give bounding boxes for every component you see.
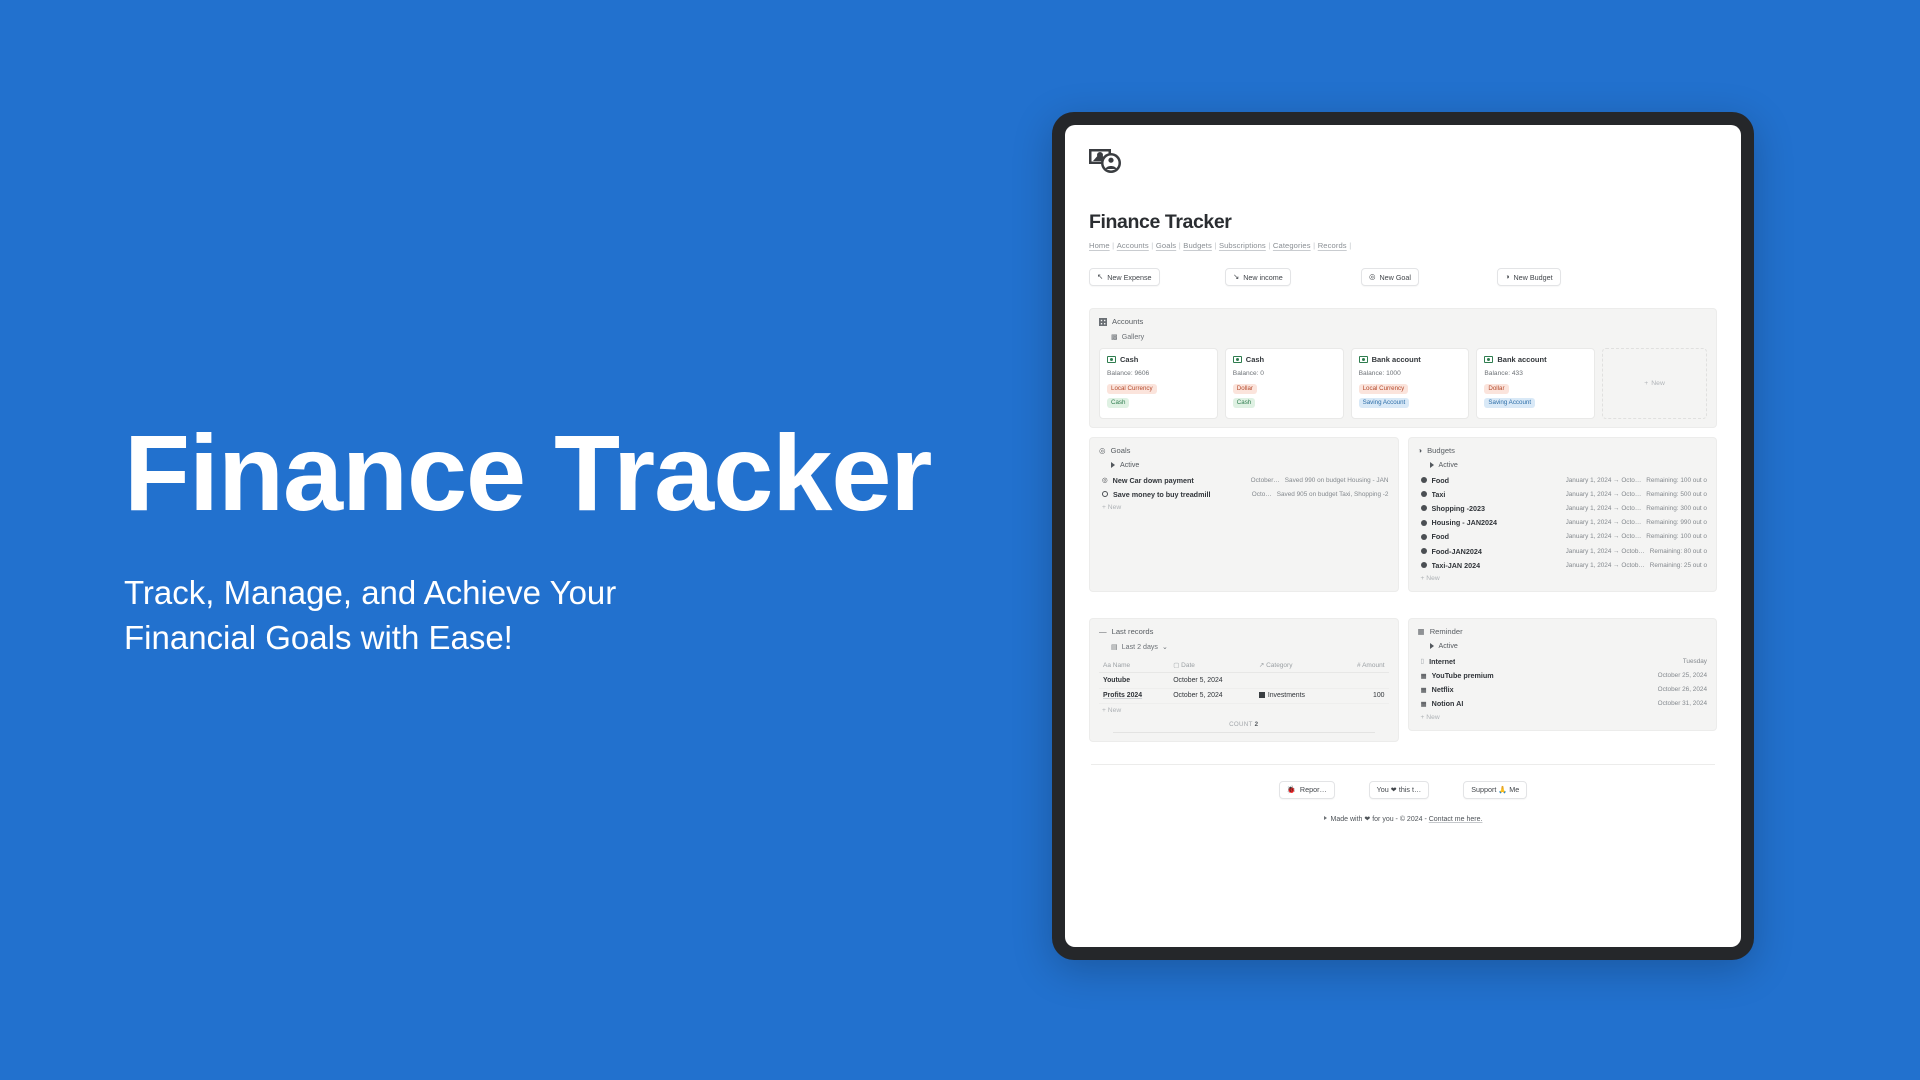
budget-period: January 1, 2024 → Octob… — [1566, 548, 1645, 555]
hero-title: Finance Tracker — [124, 419, 1050, 527]
calendar-icon: ▢ — [1173, 662, 1179, 669]
records-reminder-row: — Last records ▤ Last 2 days ⌄ Aa Name ▢… — [1089, 618, 1717, 741]
budget-name: Shopping -2023 — [1432, 504, 1486, 513]
reminder-icon: ▦ — [1421, 672, 1427, 680]
budget-period: January 1, 2024 → Octo… — [1566, 533, 1642, 540]
chevron-right-icon — [1324, 816, 1327, 820]
chevron-right-icon — [1111, 462, 1115, 468]
account-currency-tag: Local Currency — [1107, 384, 1157, 394]
budget-remaining: Remaining: 100 out o — [1646, 533, 1707, 540]
budgets-block: ◑ Budgets Active FoodJanuary 1, 2024 → O… — [1408, 437, 1718, 592]
budgets-header: ◑ Budgets — [1418, 446, 1708, 455]
new-account-label: New — [1651, 380, 1665, 387]
money-icon — [1107, 356, 1116, 363]
record-amount — [1336, 673, 1389, 688]
reminder-name: Netflix — [1432, 685, 1454, 694]
column-date[interactable]: ▢ Date — [1169, 658, 1255, 673]
goals-header: ◎ Goals — [1099, 446, 1389, 455]
budget-period: January 1, 2024 → Octo… — [1566, 505, 1642, 512]
new-goal-label: New Goal — [1379, 273, 1411, 282]
goals-title: Goals — [1111, 446, 1131, 455]
aa-icon: Aa — [1103, 662, 1111, 669]
budget-name: Food — [1432, 532, 1450, 541]
accounts-header: Accounts — [1099, 317, 1707, 326]
gallery-icon: ▩ — [1111, 332, 1118, 341]
records-table: Aa Name ▢ Date ↗ Category # Amount Youtu… — [1099, 658, 1389, 703]
record-name: Youtube — [1099, 673, 1169, 688]
account-type-tag: Saving Account — [1359, 398, 1410, 408]
budget-name: Food — [1432, 476, 1450, 485]
grid-icon — [1099, 318, 1107, 326]
budget-name: Taxi-JAN 2024 — [1432, 561, 1481, 570]
account-name: Cash — [1120, 355, 1138, 364]
budgets-group-toggle[interactable]: Active — [1430, 461, 1708, 469]
budget-item[interactable]: Shopping -2023January 1, 2024 → Octo…Rem… — [1418, 501, 1708, 515]
goal-name: Save money to buy treadmill — [1113, 490, 1210, 499]
last-records-block: — Last records ▤ Last 2 days ⌄ Aa Name ▢… — [1089, 618, 1399, 741]
dot-icon — [1421, 562, 1427, 568]
reminder-icon: ▦ — [1418, 627, 1425, 636]
reminder-item[interactable]: ▦NetflixOctober 26, 2024 — [1418, 683, 1708, 697]
account-balance: Balance: 1000 — [1359, 370, 1462, 377]
accounts-block: Accounts ▩ Gallery Cash Balance: 9606 Lo… — [1089, 308, 1717, 428]
budget-remaining: Remaining: 80 out o — [1650, 548, 1707, 555]
footer-credit: Made with ❤ for you - © 2024 - Contact m… — [1089, 815, 1717, 826]
account-type-tag: Saving Account — [1484, 398, 1535, 408]
count-value: 2 — [1255, 721, 1259, 728]
footer-buttons: 🐞Repor… You ❤ this t… Support 🙏 Me — [1089, 781, 1717, 799]
records-filter[interactable]: ▤ Last 2 days ⌄ — [1111, 642, 1389, 651]
dot-icon — [1421, 534, 1427, 540]
table-scrollbar[interactable] — [1113, 732, 1375, 733]
budget-name: Housing - JAN2024 — [1432, 518, 1498, 527]
bug-icon: 🐞 — [1287, 786, 1296, 793]
target-icon: ◎ — [1102, 476, 1108, 484]
hero-subtitle: Track, Manage, and Achieve Your Financia… — [124, 571, 744, 660]
last-records-title: Last records — [1112, 627, 1154, 636]
column-name[interactable]: Aa Name — [1099, 658, 1169, 673]
reminder-group-toggle[interactable]: Active — [1430, 642, 1708, 650]
new-record-row[interactable]: + New — [1099, 704, 1389, 715]
goals-group-label: Active — [1120, 461, 1139, 469]
new-income-button[interactable]: ↘New income — [1225, 268, 1291, 286]
dot-icon — [1421, 491, 1427, 497]
budget-remaining: Remaining: 990 out o — [1646, 519, 1707, 526]
target-icon: ◎ — [1369, 273, 1375, 280]
budget-item[interactable]: Taxi-JAN 2024January 1, 2024 → Octob…Rem… — [1418, 558, 1708, 572]
report-label: Repor… — [1300, 785, 1327, 794]
money-icon — [1484, 356, 1493, 363]
money-with-person-icon — [1089, 147, 1123, 177]
hash-icon: # — [1357, 662, 1361, 669]
budget-period: January 1, 2024 → Octo… — [1566, 477, 1642, 484]
account-currency-tag: Dollar — [1233, 384, 1257, 394]
budgets-group-label: Active — [1439, 461, 1458, 469]
goal-item[interactable]: ◎ New Car down payment October… Saved 99… — [1099, 473, 1389, 487]
new-reminder-row[interactable]: + New — [1418, 711, 1708, 722]
accounts-view-label: Gallery — [1122, 333, 1144, 341]
account-type-tag: Cash — [1107, 398, 1129, 408]
account-card[interactable]: Cash Balance: 0 Dollar Cash — [1225, 348, 1344, 419]
dot-icon — [1421, 520, 1427, 526]
table-row[interactable]: Profits 2024 October 5, 2024 Investments… — [1099, 688, 1389, 703]
budget-item[interactable]: FoodJanuary 1, 2024 → Octo…Remaining: 10… — [1418, 473, 1708, 487]
chevron-right-icon — [1430, 462, 1434, 468]
dot-icon — [1421, 548, 1427, 554]
nav-link-subscriptions[interactable]: Subscriptions — [1219, 241, 1266, 250]
goal-detail: Saved 990 on budget Housing - JAN — [1285, 477, 1389, 484]
account-currency-tag: Dollar — [1484, 384, 1508, 394]
action-buttons: ↖New Expense ↘New income ◎New Goal ◑New … — [1089, 268, 1717, 286]
chevron-down-icon: ⌄ — [1162, 642, 1168, 651]
goal-name: New Car down payment — [1113, 476, 1194, 485]
column-category[interactable]: ↗ Category — [1255, 658, 1336, 673]
account-card[interactable]: Bank account Balance: 433 Dollar Saving … — [1476, 348, 1595, 419]
account-card[interactable]: Cash Balance: 9606 Local Currency Cash — [1099, 348, 1218, 419]
money-icon — [1233, 356, 1242, 363]
reminder-title: Reminder — [1430, 627, 1463, 636]
reminder-date: October 26, 2024 — [1658, 686, 1707, 693]
chevron-right-icon — [1430, 643, 1434, 649]
reminder-icon: ▦ — [1421, 700, 1427, 708]
budget-item[interactable]: FoodJanuary 1, 2024 → Octo…Remaining: 10… — [1418, 530, 1708, 544]
new-income-label: New income — [1243, 273, 1283, 282]
record-name: Profits 2024 — [1099, 688, 1169, 703]
reminder-date: Tuesday — [1683, 658, 1707, 665]
reminder-block: ▦ Reminder Active ▯InternetTuesday ▦YouT… — [1408, 618, 1718, 731]
notion-page: Finance Tracker Home|Accounts|Goals|Budg… — [1065, 125, 1741, 947]
pie-chart-icon: ◑ — [1418, 446, 1423, 455]
reminder-item[interactable]: ▦YouTube premiumOctober 25, 2024 — [1418, 669, 1708, 683]
nav-link-categories[interactable]: Categories — [1273, 241, 1311, 250]
dot-icon — [1421, 505, 1427, 511]
budget-period: January 1, 2024 → Octo… — [1566, 519, 1642, 526]
page-icon: ▯ — [1421, 657, 1425, 665]
app-screen: Finance Tracker Home|Accounts|Goals|Budg… — [1065, 125, 1741, 947]
nav-link-home[interactable]: Home — [1089, 241, 1110, 250]
accounts-title: Accounts — [1112, 317, 1143, 326]
goal-item[interactable]: Save money to buy treadmill Octo… Saved … — [1099, 487, 1389, 501]
goals-group-toggle[interactable]: Active — [1111, 461, 1389, 469]
records-count: COUNT 2 — [1099, 715, 1389, 732]
reminder-name: Notion AI — [1432, 699, 1464, 708]
budget-item[interactable]: Food-JAN2024January 1, 2024 → Octob…Rema… — [1418, 544, 1708, 558]
record-date: October 5, 2024 — [1169, 673, 1255, 688]
budget-remaining: Remaining: 25 out o — [1650, 562, 1707, 569]
accounts-gallery: Cash Balance: 9606 Local Currency Cash C… — [1099, 348, 1707, 419]
money-icon — [1359, 356, 1368, 363]
goal-date: Octo… — [1252, 491, 1272, 498]
nav-link-records[interactable]: Records — [1318, 241, 1347, 250]
budget-remaining: Remaining: 100 out o — [1646, 477, 1707, 484]
reminder-header: ▦ Reminder — [1418, 627, 1708, 636]
account-currency-tag: Local Currency — [1359, 384, 1409, 394]
table-header-row: Aa Name ▢ Date ↗ Category # Amount — [1099, 658, 1389, 673]
arrow-down-right-icon: ↘ — [1233, 273, 1239, 280]
budget-name: Food-JAN2024 — [1432, 547, 1482, 556]
category-swatch — [1259, 692, 1265, 698]
reminder-item[interactable]: ▯InternetTuesday — [1418, 654, 1708, 668]
report-button[interactable]: 🐞Repor… — [1279, 781, 1335, 799]
breadcrumb-nav[interactable]: Home|Accounts|Goals|Budgets|Subscription… — [1089, 241, 1717, 250]
relation-icon: ↗ — [1259, 662, 1264, 669]
budget-remaining: Remaining: 500 out o — [1646, 491, 1707, 498]
new-budget-row-label: New — [1426, 575, 1439, 582]
new-account-card[interactable]: + New — [1602, 348, 1707, 419]
goal-detail: Saved 905 on budget Taxi, Shopping -2 — [1277, 491, 1389, 498]
new-goal-row[interactable]: + New — [1099, 501, 1389, 512]
accounts-view-tab[interactable]: ▩ Gallery — [1111, 332, 1707, 341]
target-icon: ◎ — [1099, 446, 1106, 455]
budgets-title: Budgets — [1427, 446, 1455, 455]
nav-link-budgets[interactable]: Budgets — [1183, 241, 1212, 250]
account-name: Bank account — [1372, 355, 1421, 364]
budget-item[interactable]: Housing - JAN2024January 1, 2024 → Octo…… — [1418, 516, 1708, 530]
account-name: Bank account — [1497, 355, 1546, 364]
ring-icon — [1102, 491, 1108, 497]
page-title: Finance Tracker — [1089, 211, 1717, 234]
love-button[interactable]: You ❤ this t… — [1369, 781, 1430, 799]
budget-item[interactable]: TaxiJanuary 1, 2024 → Octo…Remaining: 50… — [1418, 487, 1708, 501]
new-goal-button[interactable]: ◎New Goal — [1361, 268, 1419, 286]
contact-link[interactable]: Contact me here. — [1429, 816, 1483, 823]
reminder-icon: ▦ — [1421, 686, 1427, 694]
table-icon: ▤ — [1111, 642, 1118, 651]
hero-section: Finance Tracker Track, Manage, and Achie… — [0, 0, 1050, 1080]
account-balance: Balance: 9606 — [1107, 370, 1210, 377]
reminder-date: October 31, 2024 — [1658, 700, 1707, 707]
budget-period: January 1, 2024 → Octob… — [1566, 562, 1645, 569]
last-records-header: — Last records — [1099, 627, 1389, 636]
support-label: Support 🙏 Me — [1471, 785, 1519, 794]
nav-link-accounts[interactable]: Accounts — [1117, 241, 1149, 250]
love-label: You ❤ this t… — [1377, 785, 1422, 794]
account-card[interactable]: Bank account Balance: 1000 Local Currenc… — [1351, 348, 1470, 419]
records-filter-label: Last 2 days — [1122, 643, 1158, 651]
arrow-up-left-icon: ↖ — [1097, 273, 1103, 280]
plus-icon: + — [1644, 380, 1648, 387]
goals-budgets-row: ◎ Goals Active ◎ New Car down payment Oc… — [1089, 437, 1717, 592]
count-label: COUNT — [1229, 721, 1252, 728]
new-budget-button[interactable]: ◑New Budget — [1497, 268, 1561, 286]
reminder-item[interactable]: ▦Notion AIOctober 31, 2024 — [1418, 697, 1708, 711]
account-type-tag: Cash — [1233, 398, 1255, 408]
made-with-text: Made with ❤ for you - © 2024 - — [1331, 816, 1429, 823]
reminder-name: Internet — [1429, 657, 1455, 666]
reminder-name: YouTube premium — [1432, 671, 1494, 680]
new-budget-row[interactable]: + New — [1418, 572, 1708, 583]
nav-link-goals[interactable]: Goals — [1156, 241, 1176, 250]
new-reminder-label: New — [1426, 714, 1439, 721]
reminder-date: October 25, 2024 — [1658, 672, 1707, 679]
reminder-group-label: Active — [1439, 642, 1458, 650]
column-amount[interactable]: # Amount — [1336, 658, 1389, 673]
goals-block: ◎ Goals Active ◎ New Car down payment Oc… — [1089, 437, 1399, 592]
table-row[interactable]: Youtube October 5, 2024 — [1099, 673, 1389, 688]
record-date: October 5, 2024 — [1169, 688, 1255, 703]
new-goal-row-label: New — [1108, 504, 1121, 511]
record-category — [1255, 673, 1336, 688]
pie-chart-icon: ◑ — [1505, 273, 1509, 280]
new-record-label: New — [1108, 707, 1121, 714]
dot-icon — [1421, 477, 1427, 483]
record-category: Investments — [1255, 688, 1336, 703]
budget-period: January 1, 2024 → Octo… — [1566, 491, 1642, 498]
minus-icon: — — [1099, 627, 1107, 636]
device-frame: Finance Tracker Home|Accounts|Goals|Budg… — [1052, 112, 1754, 960]
new-budget-label: New Budget — [1513, 273, 1552, 282]
support-button[interactable]: Support 🙏 Me — [1463, 781, 1527, 799]
goal-date: October… — [1251, 477, 1280, 484]
record-amount: 100 — [1336, 688, 1389, 703]
budget-remaining: Remaining: 300 out o — [1646, 505, 1707, 512]
account-balance: Balance: 0 — [1233, 370, 1336, 377]
budget-name: Taxi — [1432, 490, 1446, 499]
footer-divider — [1091, 764, 1715, 765]
account-balance: Balance: 433 — [1484, 370, 1587, 377]
account-name: Cash — [1246, 355, 1264, 364]
new-expense-button[interactable]: ↖New Expense — [1089, 268, 1160, 286]
new-expense-label: New Expense — [1107, 273, 1151, 282]
